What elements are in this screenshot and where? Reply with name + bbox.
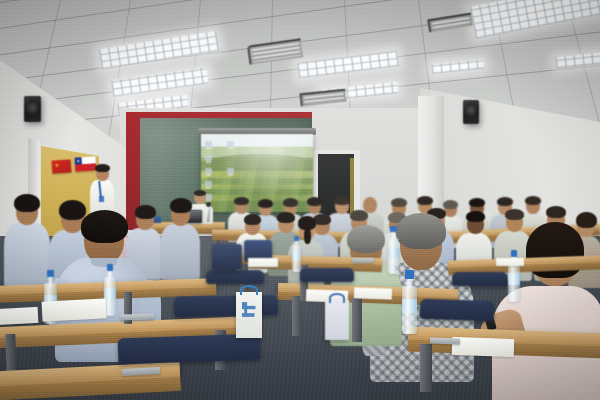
table-leg xyxy=(352,298,362,342)
table-leg xyxy=(5,334,16,374)
paper-sheet[interactable] xyxy=(452,337,515,357)
name-plate-holder xyxy=(352,258,374,263)
name-plate-holder xyxy=(120,313,154,320)
name-plate-holder xyxy=(430,337,460,344)
shopping-bag[interactable] xyxy=(236,292,262,338)
chair[interactable] xyxy=(212,244,242,270)
chair[interactable] xyxy=(420,299,495,322)
chair[interactable] xyxy=(206,270,264,284)
water-bottle[interactable] xyxy=(388,228,399,274)
paper-sheet[interactable] xyxy=(42,298,107,321)
shopping-bag[interactable] xyxy=(325,300,349,340)
paper-sheet[interactable] xyxy=(496,258,524,266)
wall-speaker-right xyxy=(463,100,479,124)
chair[interactable] xyxy=(174,295,278,317)
wall-speaker-left xyxy=(24,96,41,122)
chair[interactable] xyxy=(452,272,508,286)
paper-sheet[interactable] xyxy=(0,307,38,325)
microphone-head xyxy=(206,202,211,207)
paper-sheet[interactable] xyxy=(354,287,392,299)
flag-chile-icon xyxy=(75,156,97,171)
chair[interactable] xyxy=(118,334,261,365)
table-leg xyxy=(292,296,302,336)
water-bottle[interactable] xyxy=(292,238,301,272)
flag-china-icon xyxy=(52,159,72,173)
chair[interactable] xyxy=(300,268,354,282)
paper-sheet[interactable] xyxy=(248,258,278,267)
conference-room-photo xyxy=(0,0,600,400)
water-bottle[interactable] xyxy=(402,272,417,334)
table-leg xyxy=(420,344,432,392)
ponytail xyxy=(304,228,311,244)
